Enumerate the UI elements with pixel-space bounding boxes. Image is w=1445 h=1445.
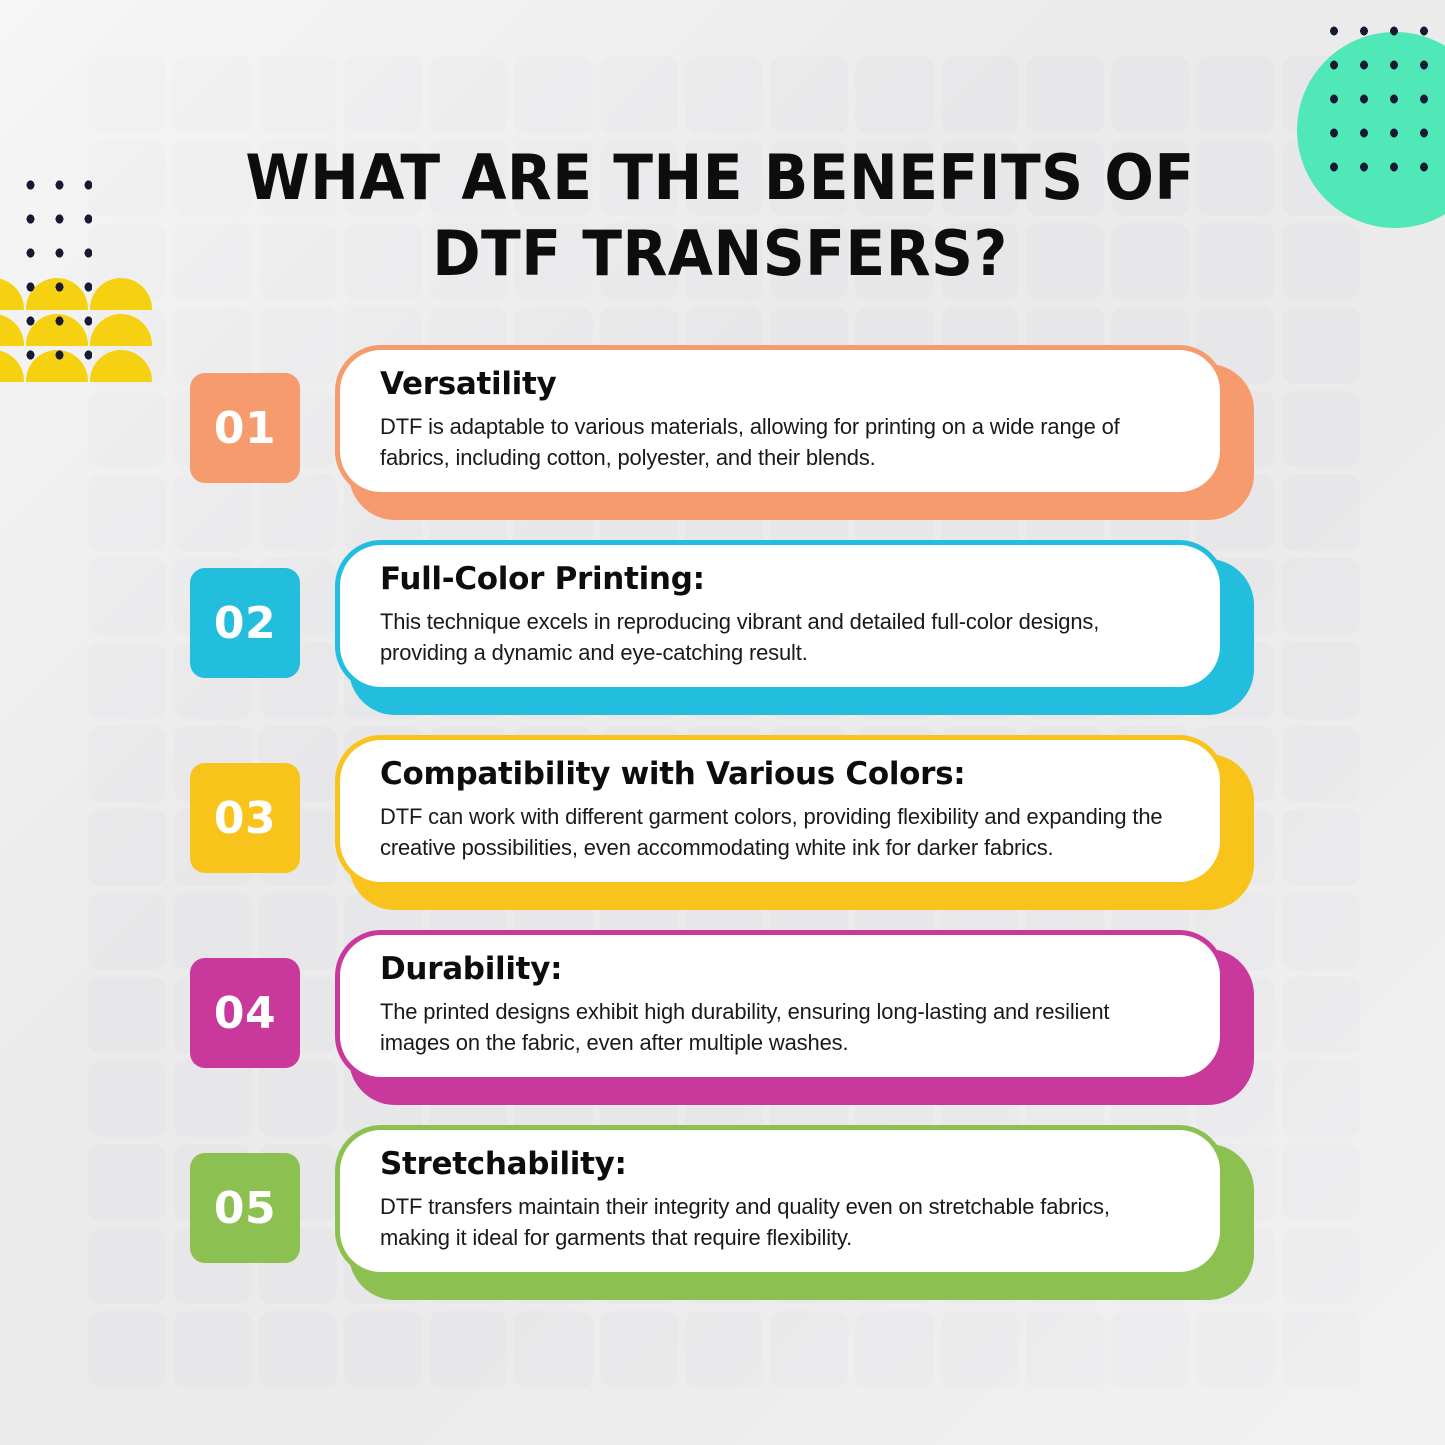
benefit-card: VersatilityDTF is adaptable to various m… [335,345,1225,497]
benefit-card-body: This technique excels in reproducing vib… [380,606,1166,668]
benefit-number-badge: 04 [190,958,300,1068]
benefit-number-badge: 03 [190,763,300,873]
benefit-card-title: Durability: [380,953,1186,986]
benefit-card-body: The printed designs exhibit high durabil… [380,996,1166,1058]
benefit-number-label: 04 [214,988,276,1039]
benefit-row: 05Stretchability:DTF transfers maintain … [0,1123,1445,1318]
benefit-row: 04Durability:The printed designs exhibit… [0,928,1445,1123]
benefits-list: 01VersatilityDTF is adaptable to various… [0,343,1445,1318]
benefit-number-badge: 01 [190,373,300,483]
benefit-card-title: Compatibility with Various Colors: [380,758,1186,791]
benefit-row: 01VersatilityDTF is adaptable to various… [0,343,1445,538]
benefit-number-label: 02 [214,598,276,649]
infographic-poster: WHAT ARE THE BENEFITS OF DTF TRANSFERS? … [0,0,1445,1445]
benefit-card: Stretchability:DTF transfers maintain th… [335,1125,1225,1277]
benefit-card-title: Versatility [380,368,1186,401]
benefit-card-body: DTF can work with different garment colo… [380,801,1166,863]
benefit-card: Durability:The printed designs exhibit h… [335,930,1225,1082]
benefit-number-label: 03 [214,793,276,844]
benefit-card-body: DTF transfers maintain their integrity a… [380,1191,1166,1253]
benefit-number-badge: 02 [190,568,300,678]
page-title: WHAT ARE THE BENEFITS OF DTF TRANSFERS? [217,140,1223,291]
benefit-number-label: 01 [214,403,276,454]
benefit-number-badge: 05 [190,1153,300,1263]
benefit-card-title: Stretchability: [380,1148,1186,1181]
benefit-number-label: 05 [214,1183,276,1234]
benefit-card-body: DTF is adaptable to various materials, a… [380,411,1166,473]
benefit-card: Compatibility with Various Colors:DTF ca… [335,735,1225,887]
benefit-row: 03Compatibility with Various Colors:DTF … [0,733,1445,928]
benefit-row: 02Full-Color Printing:This technique exc… [0,538,1445,733]
benefit-card-title: Full-Color Printing: [380,563,1186,596]
benefit-card: Full-Color Printing:This technique excel… [335,540,1225,692]
poster-content: WHAT ARE THE BENEFITS OF DTF TRANSFERS? … [0,0,1445,1445]
